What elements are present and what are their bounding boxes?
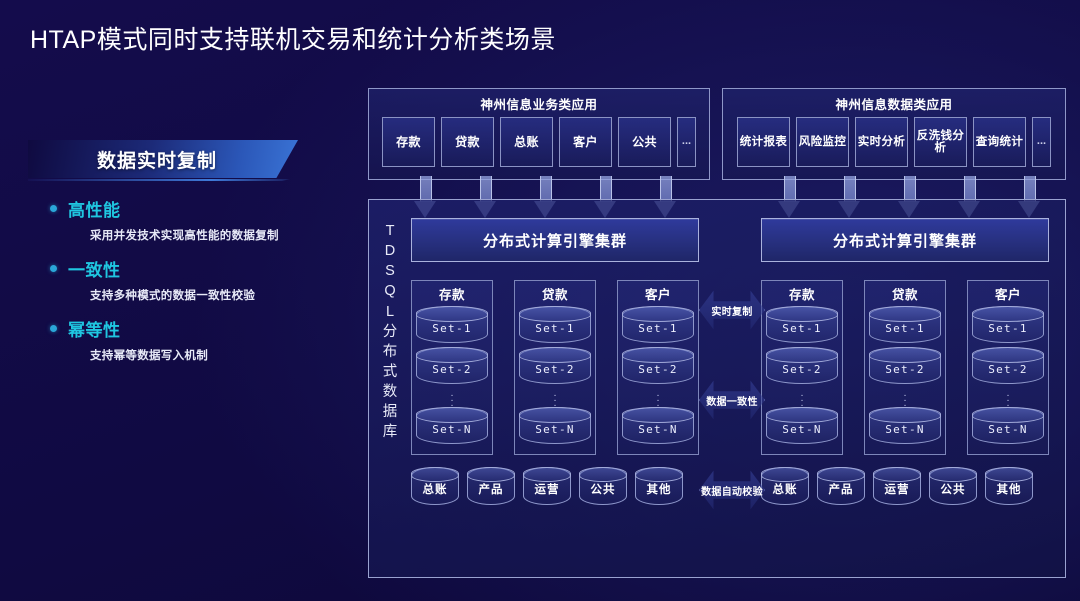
set-label: Set-N: [535, 416, 575, 436]
database-cylinder[interactable]: Set-1: [766, 306, 838, 343]
tdsql-label-char: 数: [383, 383, 398, 401]
feature-description: 采用并发技术实现高性能的数据复制: [28, 227, 348, 243]
tdsql-label-char: 据: [383, 403, 398, 421]
tdsql-panel: T D S Q L 分 布 式 数 据 库 分布式计算引擎集群 存款 Set-1…: [368, 199, 1066, 578]
banner-underline: [28, 179, 290, 181]
set-column-title: 客户: [995, 284, 1021, 303]
vertical-ellipsis-icon: ...: [657, 389, 660, 404]
tdsql-label-char: T: [386, 222, 395, 240]
set-column-title: 贷款: [542, 284, 568, 303]
small-database-cylinder[interactable]: 运营: [523, 467, 571, 505]
cylinder-label: 总账: [773, 475, 798, 497]
bullet-dot-icon: [50, 325, 57, 332]
database-cylinder[interactable]: Set-2: [622, 347, 694, 384]
cluster-olap: 分布式计算引擎集群 存款 Set-1 Set-2 ... Set-N 贷款 Se…: [761, 218, 1049, 505]
app-box-more[interactable]: ...: [1032, 117, 1051, 167]
app-group-title: 神州信息业务类应用: [369, 89, 709, 117]
set-label: Set-N: [432, 416, 472, 436]
cylinder-label: 运营: [535, 475, 560, 497]
bullet-dot-icon: [50, 205, 57, 212]
set-label: Set-1: [782, 315, 822, 335]
feature-item-0: 高性能 采用并发技术实现高性能的数据复制: [28, 196, 348, 243]
tdsql-label-char: Q: [384, 282, 395, 300]
set-label: Set-1: [535, 315, 575, 335]
database-cylinder[interactable]: Set-2: [519, 347, 591, 384]
left-feature-panel: 数据实时复制 高性能 采用并发技术实现高性能的数据复制 一致性 支持多种模式的数…: [28, 140, 348, 376]
small-database-cylinder[interactable]: 总账: [761, 467, 809, 505]
set-label: Set-2: [782, 356, 822, 376]
database-cylinder[interactable]: Set-1: [972, 306, 1044, 343]
cluster-oltp: 分布式计算引擎集群 存款 Set-1 Set-2 ... Set-N 贷款 Se…: [411, 218, 699, 505]
app-box-row: 统计报表 风险监控 实时分析 反洗钱分析 查询统计 ...: [723, 117, 1065, 167]
feature-description: 支持多种模式的数据一致性校验: [28, 287, 348, 303]
database-cylinder[interactable]: Set-1: [622, 306, 694, 343]
feature-item-1: 一致性 支持多种模式的数据一致性校验: [28, 256, 348, 303]
database-cylinder[interactable]: Set-2: [416, 347, 488, 384]
bullet-dot-icon: [50, 265, 57, 272]
page-title: HTAP模式同时支持联机交易和统计分析类场景: [30, 20, 556, 56]
cylinder-label: 公共: [591, 475, 616, 497]
set-column-title: 存款: [439, 284, 465, 303]
set-label: Set-2: [535, 356, 575, 376]
app-box-more[interactable]: ...: [677, 117, 696, 167]
set-column-title: 存款: [789, 284, 815, 303]
set-label: Set-2: [885, 356, 925, 376]
cylinder-label: 产品: [479, 475, 504, 497]
database-cylinder[interactable]: Set-2: [869, 347, 941, 384]
small-database-cylinder[interactable]: 产品: [467, 467, 515, 505]
vertical-ellipsis-icon: ...: [904, 389, 907, 404]
tdsql-label-char: 式: [383, 363, 398, 381]
feature-heading-row: 幂等性: [28, 316, 348, 341]
bottom-cylinder-row: 总账 产品 运营 公共 其他: [761, 467, 1049, 505]
app-box[interactable]: 风险监控: [796, 117, 849, 167]
link-arrow-label: 数据一致性: [699, 378, 765, 422]
cylinder-label: 其他: [647, 475, 672, 497]
link-arrow-auto-verification: 数据自动校验: [699, 468, 765, 512]
app-group-business: 神州信息业务类应用 存款 贷款 总账 客户 公共 ...: [368, 88, 710, 180]
tdsql-label-char: L: [386, 303, 394, 321]
small-database-cylinder[interactable]: 公共: [579, 467, 627, 505]
architecture-diagram: 神州信息业务类应用 存款 贷款 总账 客户 公共 ... 神州信息数据类应用 统…: [368, 88, 1066, 578]
cylinder-label: 产品: [829, 475, 854, 497]
compute-engine-cluster[interactable]: 分布式计算引擎集群: [761, 218, 1049, 262]
banner-label: 数据实时复制: [28, 140, 298, 178]
tdsql-label-char: 分: [383, 323, 398, 341]
bottom-cylinder-row: 总账 产品 运营 公共 其他: [411, 467, 699, 505]
link-arrow-label: 实时复制: [699, 288, 765, 332]
tdsql-vertical-label: T D S Q L 分 布 式 数 据 库: [377, 222, 403, 441]
compute-engine-cluster[interactable]: 分布式计算引擎集群: [411, 218, 699, 262]
cylinder-label: 其他: [997, 475, 1022, 497]
set-column-title: 客户: [645, 284, 671, 303]
link-arrow-realtime-replication: 实时复制: [699, 288, 765, 332]
feature-title: 一致性: [68, 256, 121, 281]
tdsql-label-char: S: [385, 262, 395, 280]
app-box[interactable]: 实时分析: [855, 117, 908, 167]
vertical-ellipsis-icon: ...: [451, 389, 454, 404]
small-database-cylinder[interactable]: 其他: [635, 467, 683, 505]
database-cylinder[interactable]: Set-1: [416, 306, 488, 343]
app-box[interactable]: 查询统计: [973, 117, 1026, 167]
database-cylinder[interactable]: Set-N: [519, 407, 591, 444]
app-box[interactable]: 公共: [618, 117, 671, 167]
database-cylinder[interactable]: Set-1: [519, 306, 591, 343]
set-column: 客户 Set-1 Set-2 ... Set-N: [617, 280, 699, 455]
small-database-cylinder[interactable]: 产品: [817, 467, 865, 505]
set-label: Set-1: [885, 315, 925, 335]
feature-title: 幂等性: [68, 316, 121, 341]
set-label: Set-N: [638, 416, 678, 436]
app-box[interactable]: 统计报表: [737, 117, 790, 167]
set-label: Set-2: [638, 356, 678, 376]
vertical-ellipsis-icon: ...: [554, 389, 557, 404]
feature-list: 高性能 采用并发技术实现高性能的数据复制 一致性 支持多种模式的数据一致性校验 …: [28, 196, 348, 363]
app-box-row: 存款 贷款 总账 客户 公共 ...: [369, 117, 709, 167]
feature-item-2: 幂等性 支持幂等数据写入机制: [28, 316, 348, 363]
app-group-title: 神州信息数据类应用: [723, 89, 1065, 117]
set-label: Set-1: [638, 315, 678, 335]
set-column: 贷款 Set-1 Set-2 ... Set-N: [514, 280, 596, 455]
link-arrow-data-consistency: 数据一致性: [699, 378, 765, 422]
app-box[interactable]: 总账: [500, 117, 553, 167]
set-label: Set-N: [885, 416, 925, 436]
feature-heading-row: 一致性: [28, 256, 348, 281]
cylinder-label: 公共: [941, 475, 966, 497]
set-column: 存款 Set-1 Set-2 ... Set-N: [761, 280, 843, 455]
vertical-ellipsis-icon: ...: [1007, 389, 1010, 404]
database-cylinder[interactable]: Set-N: [416, 407, 488, 444]
database-cylinder[interactable]: Set-2: [766, 347, 838, 384]
app-group-data: 神州信息数据类应用 统计报表 风险监控 实时分析 反洗钱分析 查询统计 ...: [722, 88, 1066, 180]
database-cylinder[interactable]: Set-N: [622, 407, 694, 444]
link-arrow-label: 数据自动校验: [699, 468, 765, 512]
database-cylinder[interactable]: Set-N: [972, 407, 1044, 444]
feature-title: 高性能: [68, 196, 121, 221]
set-label: Set-1: [432, 315, 472, 335]
feature-heading-row: 高性能: [28, 196, 348, 221]
tdsql-label-char: 布: [383, 343, 398, 361]
database-cylinder[interactable]: Set-N: [869, 407, 941, 444]
set-column: 存款 Set-1 Set-2 ... Set-N: [411, 280, 493, 455]
database-cylinder[interactable]: Set-N: [766, 407, 838, 444]
set-label: Set-N: [988, 416, 1028, 436]
small-database-cylinder[interactable]: 总账: [411, 467, 459, 505]
set-label: Set-1: [988, 315, 1028, 335]
set-column: 客户 Set-1 Set-2 ... Set-N: [967, 280, 1049, 455]
database-cylinder[interactable]: Set-2: [972, 347, 1044, 384]
set-label: Set-2: [432, 356, 472, 376]
feature-description: 支持幂等数据写入机制: [28, 347, 348, 363]
set-label: Set-2: [988, 356, 1028, 376]
set-column-title: 贷款: [892, 284, 918, 303]
section-banner: 数据实时复制: [28, 140, 298, 178]
cylinder-label: 总账: [423, 475, 448, 497]
database-cylinder[interactable]: Set-1: [869, 306, 941, 343]
tdsql-label-char: 库: [383, 423, 398, 441]
set-column: 贷款 Set-1 Set-2 ... Set-N: [864, 280, 946, 455]
small-database-cylinder[interactable]: 其他: [985, 467, 1033, 505]
cylinder-label: 运营: [885, 475, 910, 497]
app-box[interactable]: 客户: [559, 117, 612, 167]
vertical-ellipsis-icon: ...: [801, 389, 804, 404]
small-database-cylinder[interactable]: 公共: [929, 467, 977, 505]
small-database-cylinder[interactable]: 运营: [873, 467, 921, 505]
tdsql-label-char: D: [385, 242, 395, 260]
set-label: Set-N: [782, 416, 822, 436]
set-columns: 存款 Set-1 Set-2 ... Set-N 贷款 Set-1 Set-2 …: [411, 280, 699, 455]
app-box[interactable]: 贷款: [441, 117, 494, 167]
set-columns: 存款 Set-1 Set-2 ... Set-N 贷款 Set-1 Set-2 …: [761, 280, 1049, 455]
app-box[interactable]: 反洗钱分析: [914, 117, 967, 167]
app-box[interactable]: 存款: [382, 117, 435, 167]
